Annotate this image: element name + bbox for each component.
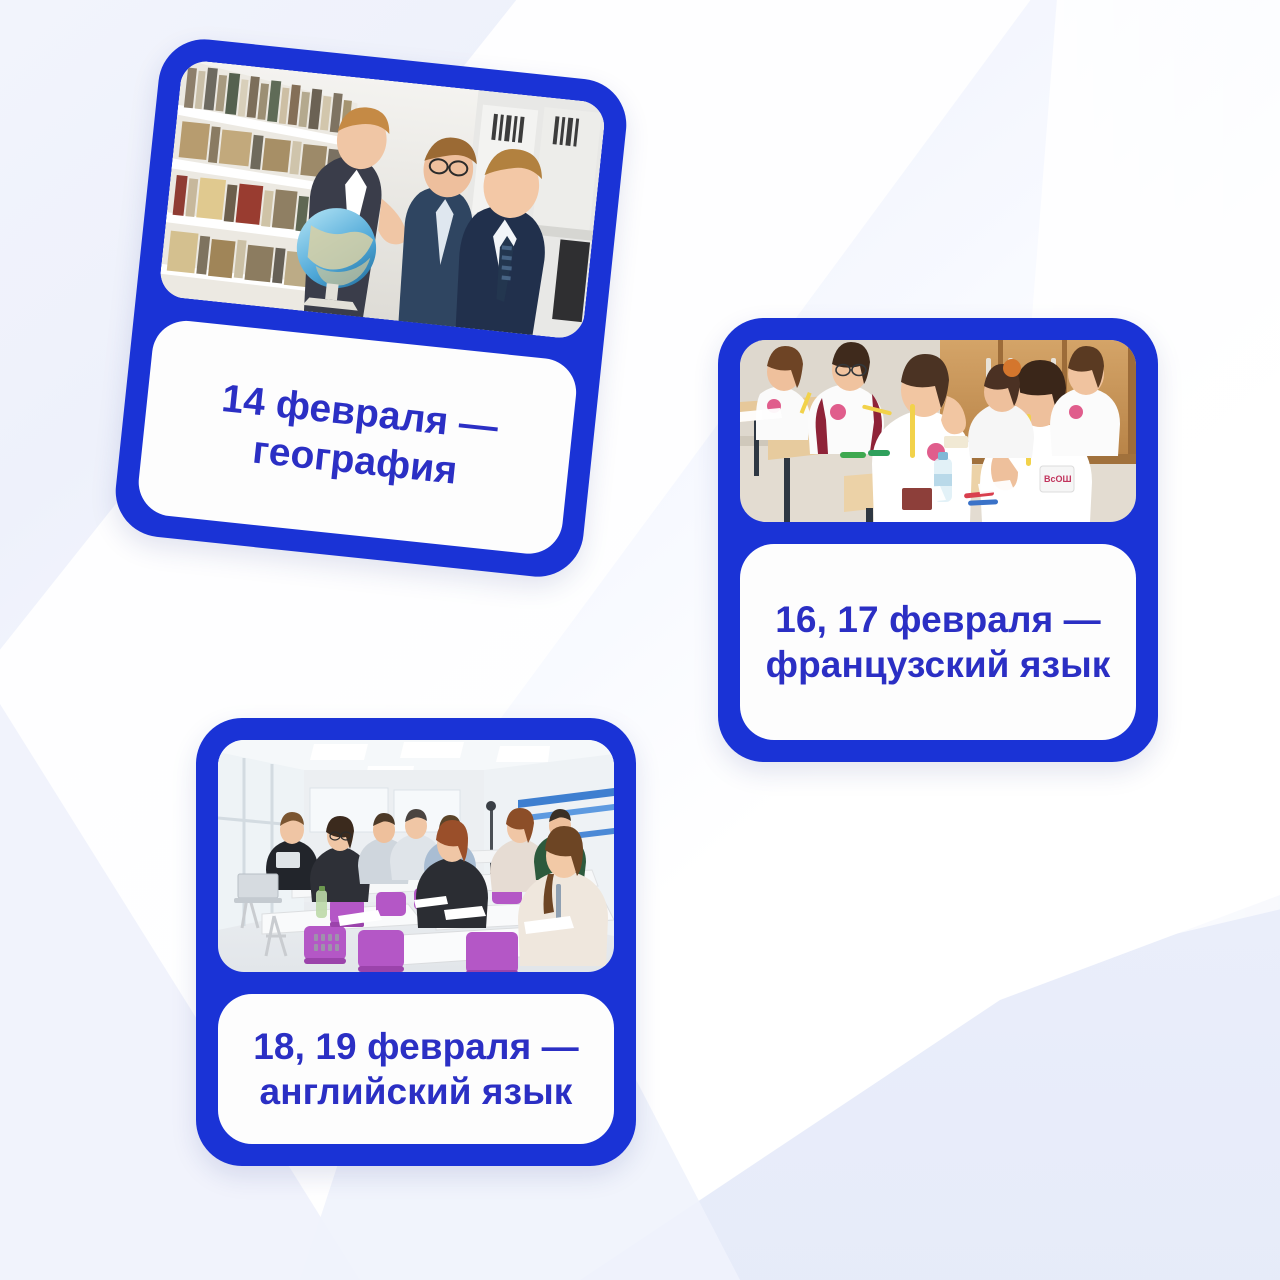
card-french-photo: ВсОШ <box>740 340 1136 522</box>
card-english-caption: 18, 19 февраля — английский язык <box>218 994 614 1144</box>
card-french[interactable]: ВсОШ <box>718 318 1158 762</box>
poster-canvas: 14 февраля — география <box>0 0 1280 1280</box>
card-french-caption: 16, 17 февраля — французский язык <box>740 544 1136 740</box>
card-geography-photo <box>158 59 607 340</box>
svg-text:ВсОШ: ВсОШ <box>1044 474 1072 484</box>
card-english-caption-text: 18, 19 февраля — английский язык <box>253 1024 579 1114</box>
card-english-photo <box>218 740 614 972</box>
card-geography-caption-text: 14 февраля — география <box>214 375 500 499</box>
card-english[interactable]: 18, 19 февраля — английский язык <box>196 718 636 1166</box>
card-geography-caption: 14 февраля — география <box>135 318 579 557</box>
card-french-caption-text: 16, 17 февраля — французский язык <box>766 597 1111 687</box>
card-geography[interactable]: 14 февраля — география <box>111 35 631 581</box>
